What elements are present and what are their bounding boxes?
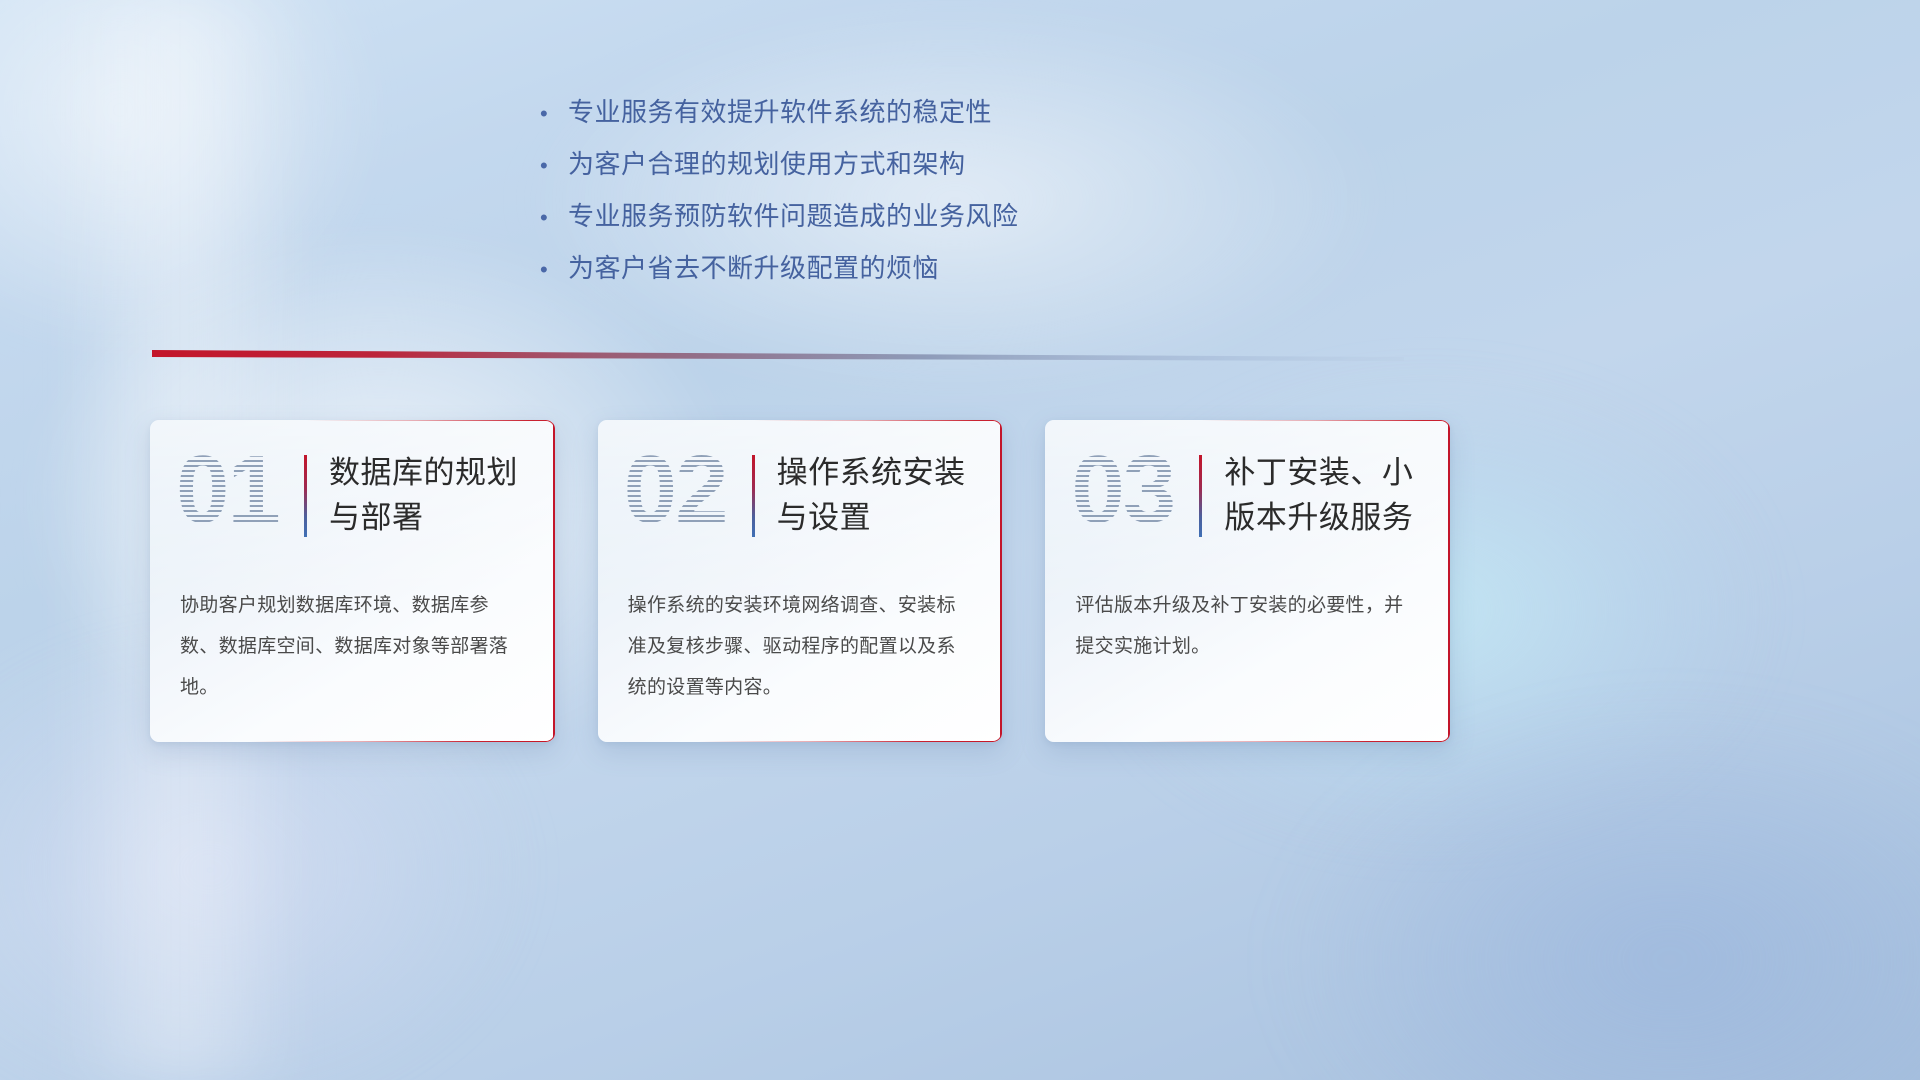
card-title-line-1: 补丁安装、小 — [1224, 451, 1413, 496]
card-number-text: 01 — [176, 435, 279, 545]
card-header: 01 数据库的规划 与部署 — [150, 420, 555, 572]
card-watermark-number: 02 — [624, 441, 752, 551]
bullet-text: 专业服务有效提升软件系统的稳定性 — [568, 92, 992, 129]
card-number-text: 03 — [1071, 435, 1174, 545]
bullet-text: 为客户合理的规划使用方式和架构 — [568, 144, 966, 181]
bullet-dot-icon: • — [540, 259, 568, 281]
bullet-dot-icon: • — [540, 103, 568, 125]
list-item: • 专业服务有效提升软件系统的稳定性 — [540, 92, 1240, 144]
card-watermark-number: 03 — [1071, 441, 1199, 551]
list-item: • 为客户省去不断升级配置的烦恼 — [540, 248, 1240, 300]
card-title-line-1: 数据库的规划 — [329, 451, 518, 496]
list-item: • 专业服务预防软件问题造成的业务风险 — [540, 196, 1240, 248]
card-watermark-number: 01 — [176, 441, 304, 551]
card-body-text: 协助客户规划数据库环境、数据库参数、数据库空间、数据库对象等部署落地。 — [150, 572, 555, 709]
bullet-text: 专业服务预防软件问题造成的业务风险 — [568, 196, 1019, 233]
bullet-list: • 专业服务有效提升软件系统的稳定性 • 为客户合理的规划使用方式和架构 • 专… — [540, 92, 1240, 300]
list-item: • 为客户合理的规划使用方式和架构 — [540, 144, 1240, 196]
bullet-text: 为客户省去不断升级配置的烦恼 — [568, 248, 939, 285]
card-header: 02 操作系统安装 与设置 — [598, 420, 1003, 572]
background-glow-top-left — [0, 0, 500, 460]
card-02[interactable]: 02 操作系统安装 与设置 操作系统的安装环境网络调查、安装标准及复核步骤、驱动… — [598, 420, 1003, 742]
card-01[interactable]: 01 数据库的规划 与部署 协助客户规划数据库环境、数据库参数、数据库空间、数据… — [150, 420, 555, 742]
card-title-line-2: 与设置 — [777, 496, 966, 541]
section-divider — [152, 348, 1404, 362]
card-header: 03 补丁安装、小 版本升级服务 — [1045, 420, 1450, 572]
card-number-text: 02 — [624, 435, 727, 545]
card-03[interactable]: 03 补丁安装、小 版本升级服务 评估版本升级及补丁安装的必要性，并提交实施计划… — [1045, 420, 1450, 742]
card-title-line-2: 与部署 — [329, 496, 518, 541]
card-title-line-1: 操作系统安装 — [777, 451, 966, 496]
bullet-dot-icon: • — [540, 155, 568, 177]
card-accent-bar — [1199, 455, 1202, 537]
card-body-text: 操作系统的安装环境网络调查、安装标准及复核步骤、驱动程序的配置以及系统的设置等内… — [598, 572, 1003, 709]
bullet-dot-icon: • — [540, 207, 568, 229]
card-row: 01 数据库的规划 与部署 协助客户规划数据库环境、数据库参数、数据库空间、数据… — [150, 420, 1450, 742]
card-accent-bar — [304, 455, 307, 537]
card-title: 数据库的规划 与部署 — [329, 451, 518, 541]
card-body-text: 评估版本升级及补丁安装的必要性，并提交实施计划。 — [1045, 572, 1450, 668]
card-accent-bar — [752, 455, 755, 537]
card-title-line-2: 版本升级服务 — [1224, 496, 1413, 541]
card-title: 补丁安装、小 版本升级服务 — [1224, 451, 1413, 541]
card-title: 操作系统安装 与设置 — [777, 451, 966, 541]
slide-canvas: • 专业服务有效提升软件系统的稳定性 • 为客户合理的规划使用方式和架构 • 专… — [0, 0, 1920, 1080]
